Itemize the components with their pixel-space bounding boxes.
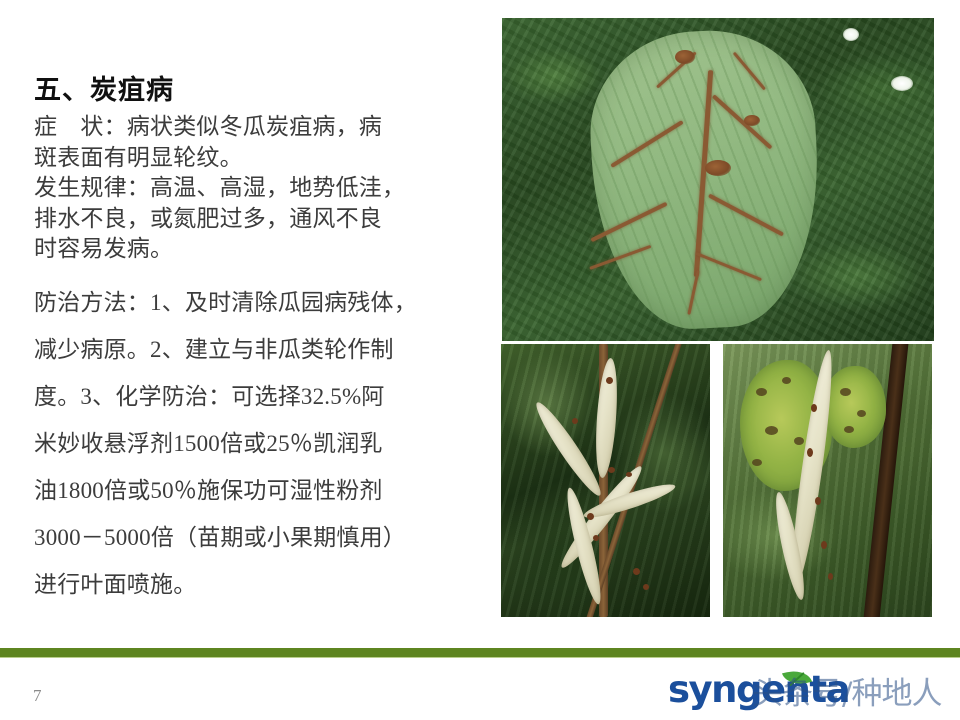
pod-lesion-mark-5 [828,573,833,580]
symptom-line-4: 排水不良，或氮肥过多，通风不良 [34,204,474,235]
control-line-4: 米妙收悬浮剂1500倍或25％凯润乳 [34,420,474,467]
control-line-7: 进行叶面喷施。 [34,561,474,608]
leaf-anthracnose-photo [502,18,934,341]
page-title: 五、炭疽病 [34,74,474,108]
source-watermark: 头条号/种地人 [752,672,957,716]
control-line-6: 3000－5000倍（苗期或小果期慎用） [34,514,474,561]
pod-lesion-mark-2 [807,448,813,457]
footer-divider-highlight [0,657,960,658]
symptom-line-1: 症 状：病状类似冬瓜炭疽病，病 [34,112,474,143]
slide-canvas: 五、炭疽病 症 状：病状类似冬瓜炭疽病，病 斑表面有明显轮纹。 发生规律：高温、… [0,0,960,720]
pod-lesion-mark-1 [811,404,817,412]
leaf-necrotic-spot-1 [756,388,767,396]
control-line-2: 减少病原。2、建立与非瓜类轮作制 [34,326,474,373]
pods-anthracnose-photo [501,344,710,617]
spotted-leaf-right [823,366,886,448]
symptom-line-2: 斑表面有明显轮纹。 [34,143,474,174]
control-line-1: 防治方法：1、及时清除瓜园病残体， [34,279,474,326]
leaf-necrotic-spot-5 [752,459,762,466]
pod-lesion-mark-4 [821,541,827,549]
symptom-line-3: 发生规律：高温、高湿，地势低洼， [34,173,474,204]
leaf-necrotic-spot-8 [857,410,866,417]
leaf-necrotic-spot-2 [782,377,791,384]
white-flower-1 [843,28,859,41]
leaf-necrotic-spot-9 [844,426,854,433]
leaf-necrotic-spot-3 [765,426,778,435]
footer-divider-bar [0,648,960,657]
lesion-blotch-3 [744,115,760,126]
text-column: 五、炭疽病 症 状：病状类似冬瓜炭疽病，病 斑表面有明显轮纹。 发生规律：高温、… [34,74,474,608]
pod-lesion-spot-5 [593,535,599,541]
pod-lesion-mark-3 [815,497,821,505]
leaf-necrotic-spot-7 [840,388,851,396]
pod-lesion-spot-3 [608,467,615,473]
control-line-3: 度。3、化学防治：可选择32.5%阿 [34,373,474,420]
leaf-necrotic-spot-4 [794,437,804,445]
page-number: 7 [33,686,42,706]
pod-lesion-spot-6 [633,568,640,575]
pod-leaf-anthracnose-photo [723,344,932,617]
pod-lesion-spot-2 [572,418,578,424]
symptom-paragraph: 症 状：病状类似冬瓜炭疽病，病 斑表面有明显轮纹。 发生规律：高温、高湿，地势低… [34,112,474,265]
pod-lesion-spot-1 [606,377,613,384]
symptom-line-5: 时容易发病。 [34,234,474,265]
pod-lesion-spot-4 [587,513,594,520]
white-flower-2 [891,76,913,91]
control-line-5: 油1800倍或50％施保功可湿性粉剂 [34,467,474,514]
control-paragraph: 防治方法：1、及时清除瓜园病残体， 减少病原。2、建立与非瓜类轮作制 度。3、化… [34,279,474,608]
